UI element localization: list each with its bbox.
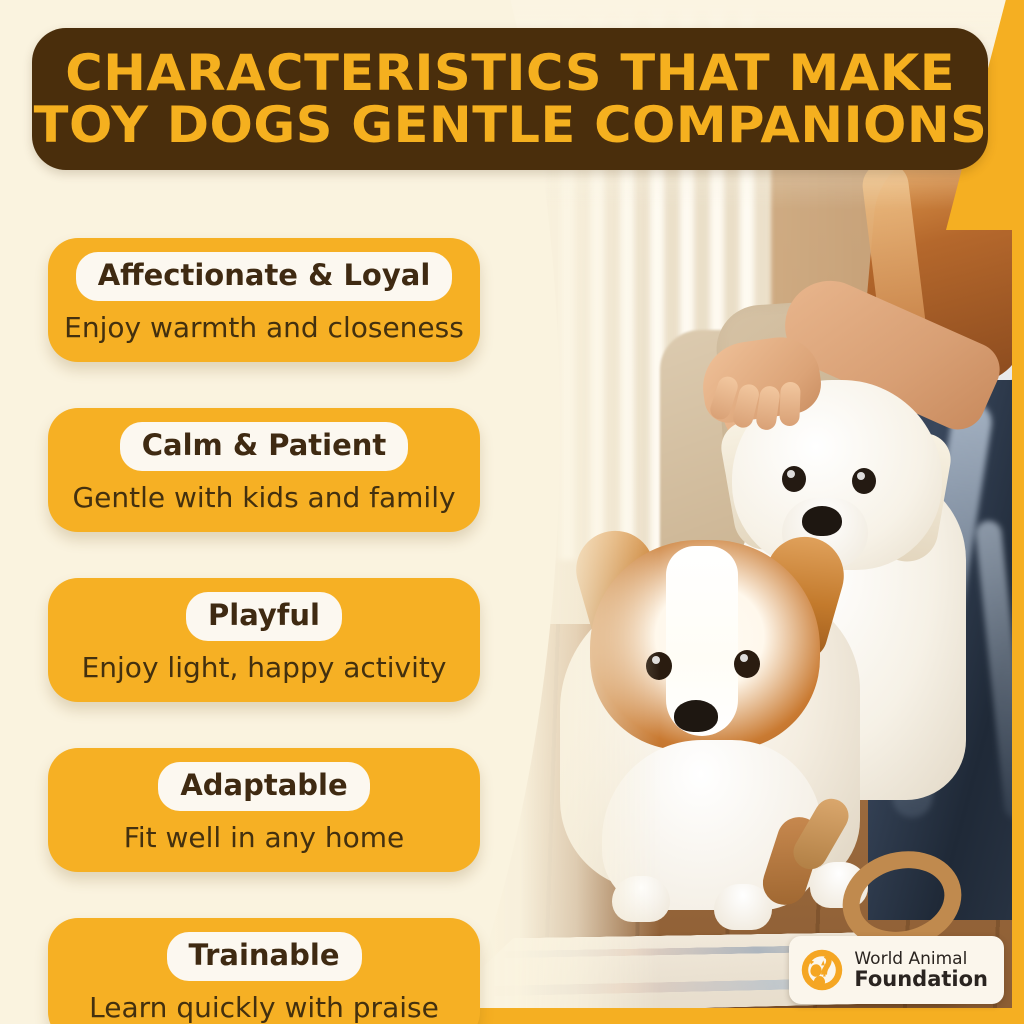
brown-white-dog-nose	[674, 700, 718, 732]
characteristic-card-trainable[interactable]: Trainable Learn quickly with praise	[48, 918, 480, 1024]
card-description: Learn quickly with praise	[89, 991, 439, 1024]
card-title: Adaptable	[158, 762, 369, 811]
white-dog-nose	[802, 506, 842, 536]
characteristic-card-playful[interactable]: Playful Enjoy light, happy activity	[48, 578, 480, 702]
brown-white-dog-eye-right	[734, 650, 760, 678]
card-description: Gentle with kids and family	[72, 481, 455, 514]
dog-and-cat-in-circle-icon	[799, 947, 845, 993]
card-title: Trainable	[167, 932, 362, 981]
brand-logo[interactable]: World Animal Foundation	[789, 936, 1004, 1004]
brand-logo-text: World Animal Foundation	[854, 951, 988, 990]
white-dog-eye-right	[852, 468, 876, 494]
page-title-line-1: CHARACTERISTICS THAT MAKE	[65, 47, 955, 99]
infographic-canvas: CHARACTERISTICS THAT MAKE TOY DOGS GENTL…	[0, 0, 1024, 1024]
page-title-line-2: TOY DOGS GENTLE COMPANIONS	[33, 99, 987, 151]
card-title: Calm & Patient	[120, 422, 409, 471]
card-title: Affectionate & Loyal	[76, 252, 453, 301]
card-title: Playful	[186, 592, 342, 641]
card-description: Fit well in any home	[124, 821, 405, 854]
frame-border-right	[1012, 0, 1024, 1024]
characteristics-list: Affectionate & Loyal Enjoy warmth and cl…	[48, 238, 480, 1024]
white-dog-eye-left	[782, 466, 806, 492]
page-title: CHARACTERISTICS THAT MAKE TOY DOGS GENTL…	[32, 28, 988, 170]
card-description: Enjoy warmth and closeness	[64, 311, 464, 344]
brand-logo-line-1: World Animal	[854, 951, 988, 968]
characteristic-card-adaptable[interactable]: Adaptable Fit well in any home	[48, 748, 480, 872]
characteristic-card-calm-patient[interactable]: Calm & Patient Gentle with kids and fami…	[48, 408, 480, 532]
brand-logo-line-2: Foundation	[854, 969, 988, 990]
hand-finger	[779, 382, 801, 427]
characteristic-card-affectionate-loyal[interactable]: Affectionate & Loyal Enjoy warmth and cl…	[48, 238, 480, 362]
card-description: Enjoy light, happy activity	[82, 651, 447, 684]
